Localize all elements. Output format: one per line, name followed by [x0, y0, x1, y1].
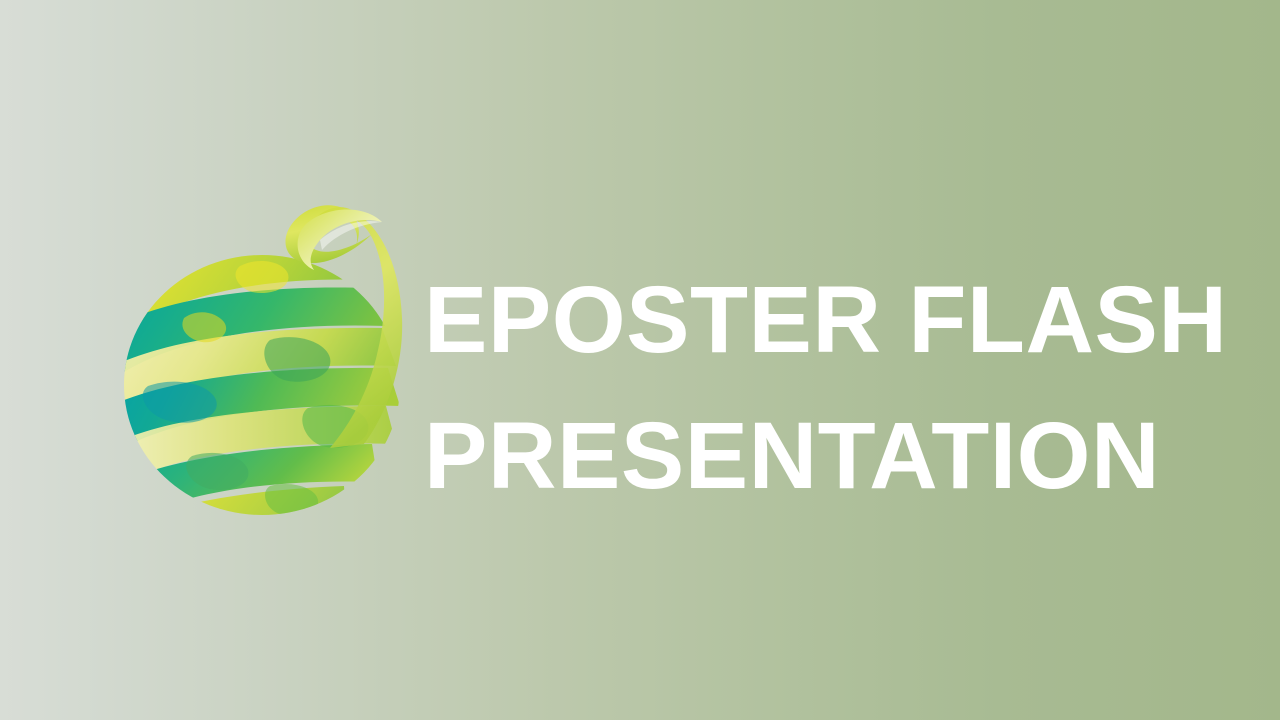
globe-ribbon-leaf-logo — [120, 200, 405, 518]
slide-canvas: EPOSTER FLASH PRESENTATION — [0, 0, 1280, 720]
title-block: EPOSTER FLASH PRESENTATION — [424, 252, 1224, 524]
page-title-line-2: PRESENTATION — [424, 388, 1224, 524]
page-title-line-1: EPOSTER FLASH — [424, 252, 1224, 388]
